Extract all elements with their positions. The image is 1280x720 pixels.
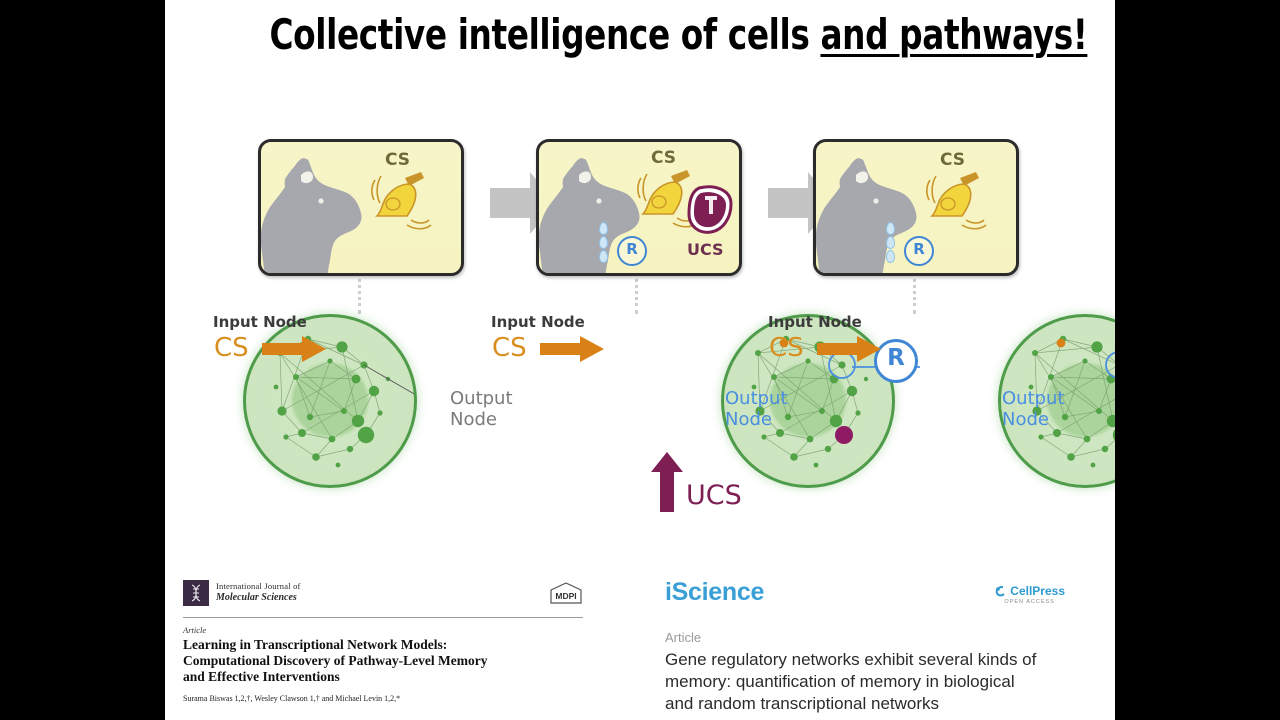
drool-drop-icon [886, 236, 895, 249]
ijms-line-2: Molecular Sciences [216, 592, 301, 603]
drool-drop-icon [599, 250, 608, 263]
mdpi-logo-icon: MDPI [549, 581, 583, 605]
steak-ucs-icon [685, 184, 735, 236]
panel-2-cs-label: CS [651, 148, 676, 168]
citation-left-authors: Surama Biswas 1,2,†, Wesley Clawson 1,† … [183, 694, 583, 703]
panel-2-ucs-label: UCS [687, 240, 724, 259]
screenshot-root: Collective intelligence of cells and pat… [0, 0, 1280, 720]
connector-dotted-3 [913, 272, 916, 314]
citation-left-title: Learning in Transcriptional Network Mode… [183, 637, 583, 685]
ijms-header: International Journal of Molecular Scien… [183, 580, 583, 614]
cell-2-cs-arrow [540, 336, 606, 362]
panel-2-response-badge: R [617, 236, 647, 266]
slide-canvas: Collective intelligence of cells and pat… [165, 0, 1115, 720]
cellpress-mark-icon [994, 585, 1007, 598]
cell-3-input-node-label: Input Node [768, 313, 862, 331]
citation-right-title: Gene regulatory networks exhibit several… [665, 649, 1065, 715]
scene-panel-3: CS R [813, 139, 1019, 276]
bell-icon-3 [924, 170, 990, 232]
cell-2-input-node-label: Input Node [491, 313, 585, 331]
drool-drop-icon [599, 236, 608, 249]
citation-right: iScience CellPress OPEN ACCESS Article G… [665, 578, 1065, 715]
drool-drop-icon [886, 250, 895, 263]
panel-1-cs-label: CS [385, 150, 410, 170]
cell-1-cs-arrow [262, 336, 328, 362]
cell-3-cs-label: CS [769, 333, 804, 363]
cell-2-cs-label: CS [492, 333, 527, 363]
page-title: Collective intelligence of cells and pat… [270, 10, 1011, 59]
connector-dotted-2 [635, 272, 638, 314]
ijms-title-block: International Journal of Molecular Scien… [216, 581, 301, 603]
cell-3-output-node-label: Output Node [1002, 388, 1065, 430]
page-title-underlined: and pathways! [820, 10, 1087, 59]
cell-2-output-node-label: Output Node [725, 388, 788, 430]
cell-2-ucs-arrow [649, 450, 685, 512]
ijms-line-1: International Journal of [216, 581, 301, 591]
citation-right-kicker: Article [665, 630, 1065, 645]
drool-drop-icon [599, 222, 608, 235]
scene-panel-1: CS [258, 139, 464, 276]
citation-left-rule [183, 617, 583, 618]
ijms-logo-icon [183, 580, 209, 606]
cell-1-input-node-label: Input Node [213, 313, 307, 331]
cell-3-cs-arrow [817, 336, 883, 362]
page-title-main: Collective intelligence of cells [270, 10, 821, 59]
cellpress-name: CellPress [1010, 584, 1065, 598]
cell-1-cs-label: CS [214, 333, 249, 363]
drool-drop-icon [886, 222, 895, 235]
cellpress-row: CellPress [994, 584, 1065, 598]
citation-left: International Journal of Molecular Scien… [183, 580, 583, 703]
cell-2-ucs-label: UCS [686, 480, 742, 511]
cellpress-open-access: OPEN ACCESS [994, 599, 1065, 605]
cellpress-logo: CellPress OPEN ACCESS [994, 584, 1065, 605]
citation-left-kicker: Article [183, 625, 583, 635]
svg-text:MDPI: MDPI [555, 591, 576, 601]
connector-dotted-1 [358, 272, 361, 314]
panel-3-cs-label: CS [940, 150, 965, 170]
bell-icon-1 [369, 170, 435, 232]
cell-1-output-node-label: Output Node [450, 388, 513, 430]
scene-panel-2: CS UCS R [536, 139, 742, 276]
panel-3-response-badge: R [904, 236, 934, 266]
